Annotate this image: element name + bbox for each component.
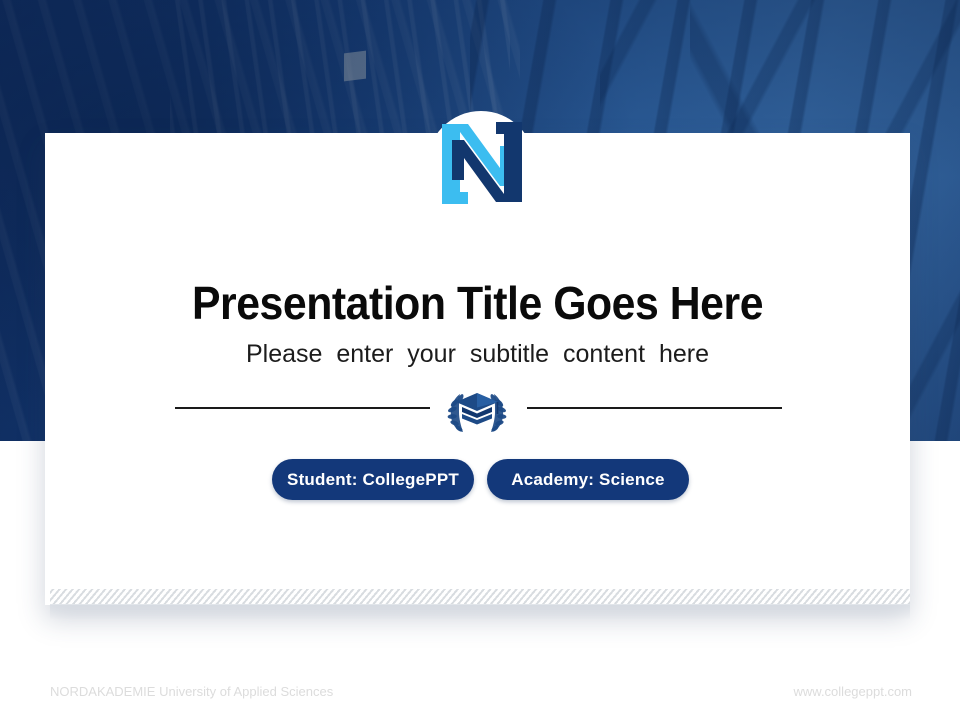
page-title: Presentation Title Goes Here: [75, 276, 879, 330]
presentation-slide: Presentation Title Goes Here Please ente…: [0, 0, 960, 720]
academy-info-button[interactable]: Academy: Science: [487, 459, 689, 500]
student-info-button[interactable]: Student: CollegePPT: [272, 459, 474, 500]
divider-line-left: [175, 407, 430, 409]
graduation-cap-laurel-emblem-icon: [443, 388, 511, 434]
card-bottom-shadow: [50, 604, 910, 620]
footer-institution-name: NORDAKADEMIE University of Applied Scien…: [50, 684, 333, 699]
nordakademie-n-logo-icon: [438, 116, 526, 210]
page-subtitle: Please enter your subtitle content here: [45, 340, 910, 369]
divider-line-right: [527, 407, 782, 409]
footer-website-url[interactable]: www.collegeppt.com: [794, 684, 913, 699]
card-bottom-hatch-strip: [50, 589, 910, 604]
divider-row: [45, 388, 910, 436]
